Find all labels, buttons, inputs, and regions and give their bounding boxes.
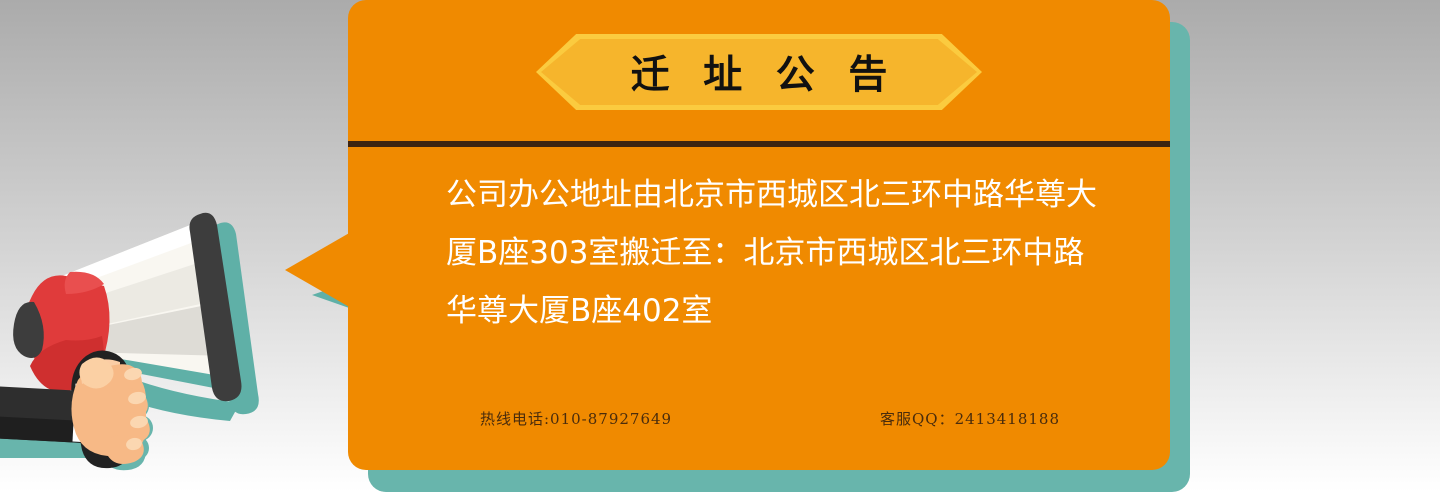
announcement-body: 公司办公地址由北京市西城区北三环中路华尊大厦B座303室搬迁至：北京市西城区北三… — [446, 166, 1098, 340]
contact-footer: 热线电话:010-87927649 客服QQ：2413418188 — [480, 408, 1060, 429]
header-divider — [348, 141, 1170, 147]
qq-text: 客服QQ：2413418188 — [880, 408, 1060, 429]
hotline-text: 热线电话:010-87927649 — [480, 408, 672, 429]
page-title: 迁 址 公 告 — [536, 34, 982, 110]
announcement-banner-image: 迁 址 公 告 公司办公地址由北京市西城区北三环中路华尊大厦B座303室搬迁至：… — [0, 0, 1440, 492]
title-banner: 迁 址 公 告 — [536, 34, 982, 110]
megaphone-icon — [0, 180, 340, 492]
